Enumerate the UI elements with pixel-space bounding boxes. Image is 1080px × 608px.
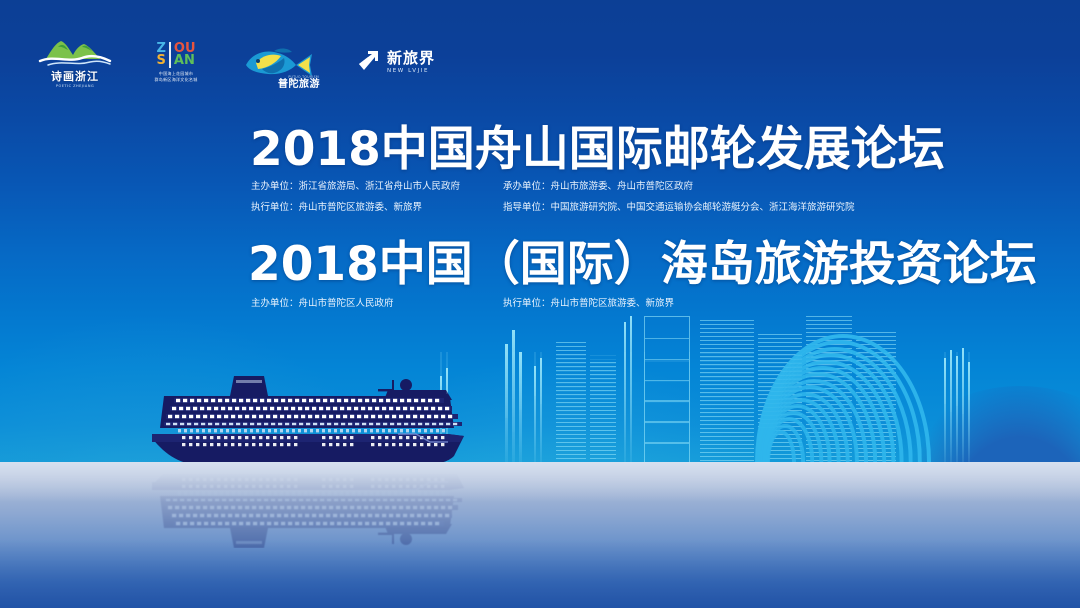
building-rung [645, 360, 689, 362]
logo-putuo-lvyou: PUTUO TOURISM 普陀旅游 [238, 35, 320, 89]
meta-organizer: 承办单位：舟山市旅游委、舟山市普陀区政府 [503, 182, 693, 192]
forum-secondary-meta: 主办单位：舟山市普陀区人民政府 执行单位：舟山市普陀区旅游委、新旅界 [251, 299, 674, 309]
meta-advisor: 指导单位：中国旅游研究院、中国交通运输协会邮轮游艇分会、浙江海洋旅游研究院 [503, 203, 855, 213]
meta-row: 执行单位：舟山市普陀区旅游委、新旅界 指导单位：中国旅游研究院、中国交通运输协会… [251, 203, 855, 213]
forum-primary-meta: 主办单位：浙江省旅游局、浙江省舟山市人民政府 承办单位：舟山市旅游委、舟山市普陀… [251, 182, 855, 213]
meta-host: 主办单位：浙江省旅游局、浙江省舟山市人民政府 [251, 182, 503, 192]
meta-executor: 执行单位：舟山市普陀区旅游委、新旅界 [503, 299, 674, 309]
landmark-reflection [752, 344, 934, 462]
meta-host: 主办单位：舟山市普陀区人民政府 [251, 299, 503, 309]
building-rung [645, 338, 689, 340]
logo-xin-lvjie-en: NEW LVJIE [387, 68, 429, 74]
sponsor-logo-row: 诗画浙江 POETIC ZHEJIANG Z S OU AN 中国海上花园城市群… [36, 34, 440, 90]
mountain-water-icon [38, 37, 112, 67]
forum-primary-title: 2018中国舟山国际邮轮发展论坛 [250, 122, 945, 177]
sea-vignette [0, 540, 1080, 608]
logo-shihua-zhejiang: 诗画浙江 POETIC ZHEJIANG [36, 35, 114, 89]
building-rung [645, 381, 689, 383]
logo-putuo-cn: 普陀旅游 [278, 75, 320, 90]
poster-stage: 诗画浙江 POETIC ZHEJIANG Z S OU AN 中国海上花园城市群… [0, 0, 1080, 608]
building-rung [645, 423, 689, 425]
fish-icon [240, 45, 318, 79]
logo-shihua-zhejiang-en: POETIC ZHEJIANG [56, 84, 94, 88]
logo-xin-lvjie-cn: 新旅界 [387, 51, 435, 66]
logo-zhoushan: Z S OU AN 中国海上花园城市群岛新区海洋文化名城 [144, 35, 208, 89]
zhoushan-wordmark-icon: Z S OU AN [156, 42, 195, 68]
logo-shihua-zhejiang-cn: 诗画浙江 [51, 68, 99, 84]
logo-zhoushan-caption: 中国海上花园城市群岛新区海洋文化名城 [155, 71, 198, 83]
meta-row: 主办单位：舟山市普陀区人民政府 执行单位：舟山市普陀区旅游委、新旅界 [251, 299, 674, 309]
ship-reflection [148, 462, 478, 548]
forum-secondary-title: 2018中国（国际）海岛旅游投资论坛 [248, 237, 1037, 292]
arrow-flag-icon [355, 49, 381, 75]
zhoushan-divider [169, 42, 171, 68]
logo-xin-lvjie: 新旅界 NEW LVJIE [350, 35, 440, 89]
building-rung [645, 402, 689, 404]
meta-row: 主办单位：浙江省旅游局、浙江省舟山市人民政府 承办单位：舟山市旅游委、舟山市普陀… [251, 182, 855, 192]
meta-executor: 执行单位：舟山市普陀区旅游委、新旅界 [251, 203, 503, 213]
landmark-rib [752, 334, 928, 462]
